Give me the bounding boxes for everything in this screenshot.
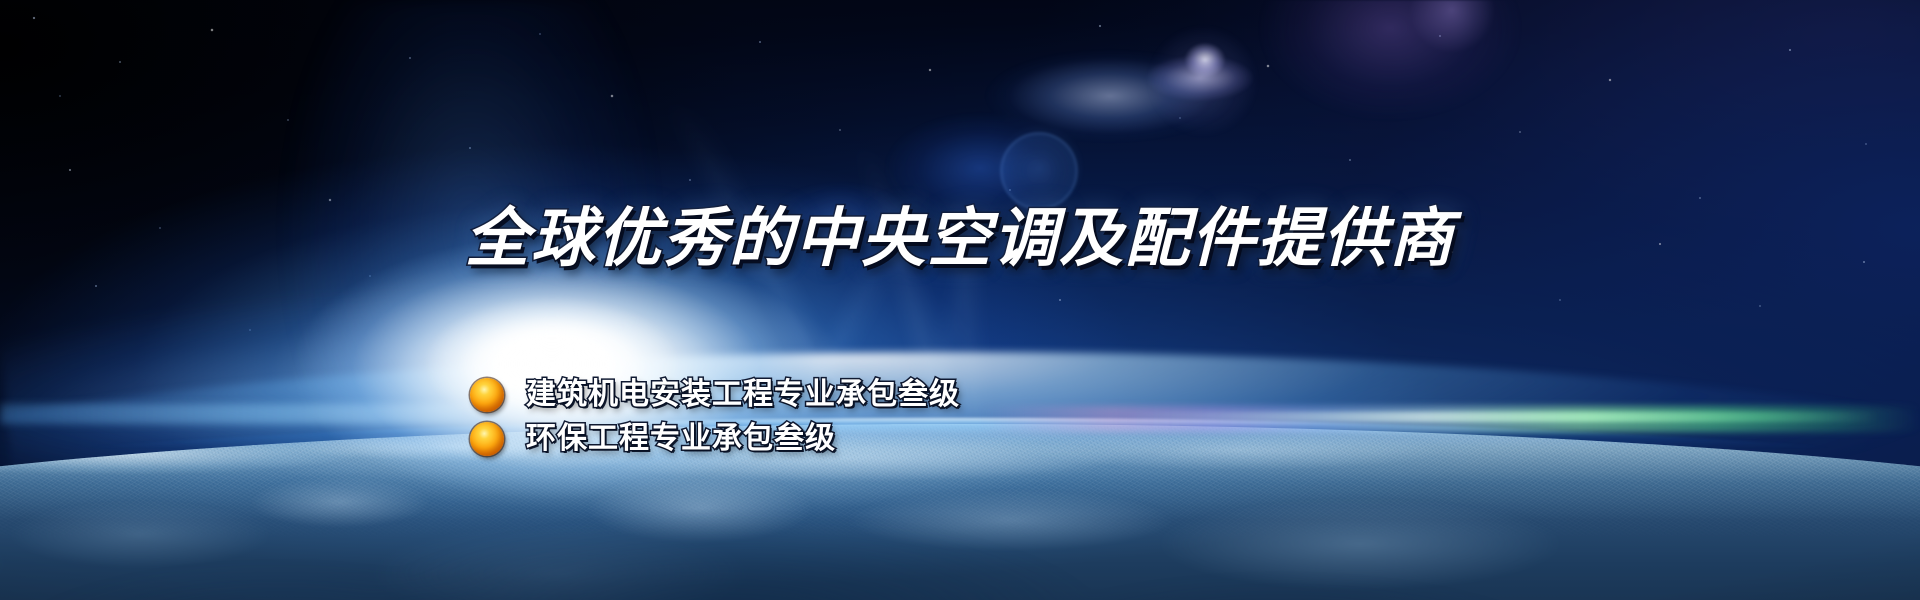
bullet-item-2-label: 环保工程专业承包叁级 xyxy=(526,424,836,454)
banner-bullet-list: 建筑机电安装工程专业承包叁级 环保工程专业承包叁级 xyxy=(470,378,960,456)
orange-bullet-dot-icon xyxy=(470,378,504,412)
hero-banner: 全球优秀的中央空调及配件提供商 建筑机电安装工程专业承包叁级 环保工程专业承包叁… xyxy=(0,0,1920,600)
orange-bullet-dot-icon xyxy=(470,422,504,456)
bullet-item-1: 建筑机电安装工程专业承包叁级 xyxy=(470,378,960,412)
banner-content: 全球优秀的中央空调及配件提供商 建筑机电安装工程专业承包叁级 环保工程专业承包叁… xyxy=(0,0,1920,600)
bullet-item-1-label: 建筑机电安装工程专业承包叁级 xyxy=(526,380,960,410)
bullet-item-2: 环保工程专业承包叁级 xyxy=(470,422,960,456)
banner-headline: 全球优秀的中央空调及配件提供商 xyxy=(0,206,1920,270)
